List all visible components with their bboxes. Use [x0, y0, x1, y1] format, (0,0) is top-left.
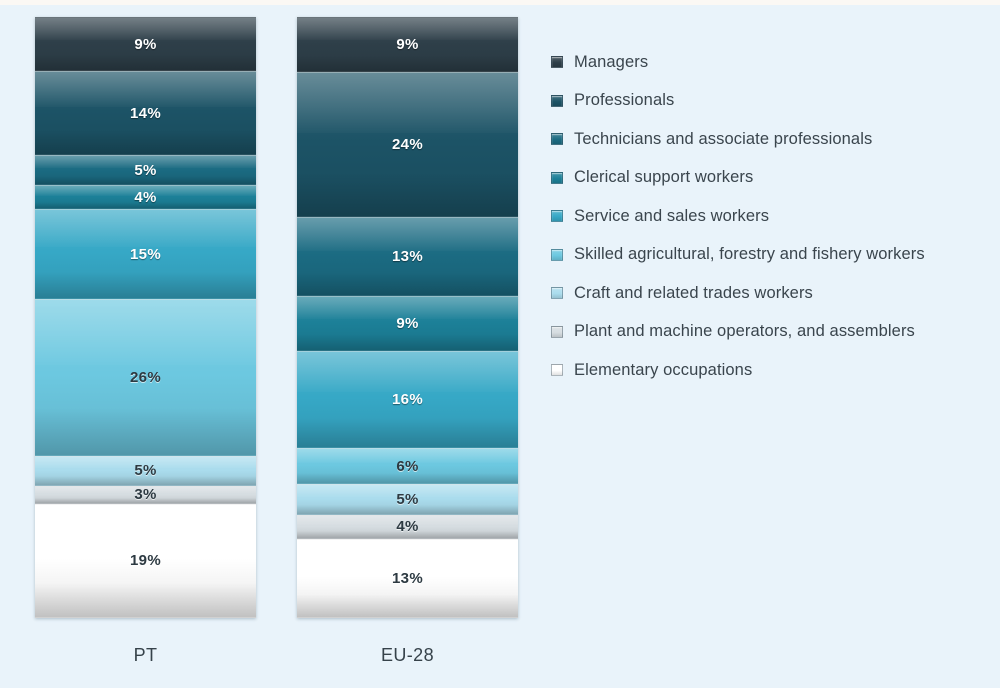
segment-value-label: 9%: [396, 36, 418, 53]
segment-value-label: 13%: [392, 570, 423, 587]
legend-item-label: Technicians and associate professionals: [574, 130, 872, 149]
segment-value-label: 19%: [130, 552, 161, 569]
bar-segment-eu28-managers: 9%: [297, 17, 518, 72]
bar-stack-pt: 9%14%5%4%15%26%5%3%19%: [35, 17, 256, 618]
segment-value-label: 4%: [134, 189, 156, 206]
legend-item-label: Clerical support workers: [574, 168, 753, 187]
legend-item-managers[interactable]: Managers: [551, 43, 996, 82]
segment-value-label: 4%: [396, 518, 418, 535]
segment-value-label: 9%: [396, 315, 418, 332]
segment-value-label: 26%: [130, 369, 161, 386]
legend-item-elementary-occupations[interactable]: Elementary occupations: [551, 351, 996, 390]
bar-segment-pt-elementary-occupations: 19%: [35, 504, 256, 618]
segment-value-label: 16%: [392, 391, 423, 408]
legend-item-skilled-agricultural-forestry-and-fishery-workers[interactable]: Skilled agricultural, forestry and fishe…: [551, 236, 996, 275]
legend-swatch-icon: [551, 364, 563, 376]
legend-item-label: Professionals: [574, 91, 674, 110]
segment-value-label: 5%: [134, 162, 156, 179]
bar-segment-pt-clerical-support-workers: 4%: [35, 185, 256, 209]
legend-item-label: Craft and related trades workers: [574, 284, 813, 303]
bar-segment-eu28-professionals: 24%: [297, 72, 518, 218]
legend-item-label: Skilled agricultural, forestry and fishe…: [574, 245, 925, 264]
segment-value-label: 5%: [396, 491, 418, 508]
segment-value-label: 24%: [392, 136, 423, 153]
bar-segment-eu28-skilled-agricultural-forestry-and-fishery-workers: 6%: [297, 448, 518, 484]
bar-segment-pt-plant-and-machine-operators-and-assemblers: 3%: [35, 486, 256, 504]
legend-item-label: Elementary occupations: [574, 361, 752, 380]
legend-swatch-icon: [551, 287, 563, 299]
bar-segment-eu28-service-and-sales-workers: 16%: [297, 351, 518, 448]
legend-item-label: Service and sales workers: [574, 207, 769, 226]
bar-segment-eu28-elementary-occupations: 13%: [297, 539, 518, 618]
segment-value-label: 5%: [134, 462, 156, 479]
legend-swatch-icon: [551, 249, 563, 261]
legend-item-craft-and-related-trades-workers[interactable]: Craft and related trades workers: [551, 274, 996, 313]
bar-segment-eu28-technicians-and-associate-professionals: 13%: [297, 217, 518, 296]
segment-value-label: 6%: [396, 458, 418, 475]
legend-item-label: Managers: [574, 53, 648, 72]
legend-item-plant-and-machine-operators-and-assemblers[interactable]: Plant and machine operators, and assembl…: [551, 313, 996, 352]
bar-segment-pt-managers: 9%: [35, 17, 256, 71]
segment-value-label: 15%: [130, 246, 161, 263]
segment-value-label: 13%: [392, 248, 423, 265]
bar-stack-eu28: 9%24%13%9%16%6%5%4%13%: [297, 17, 518, 618]
segment-value-label: 14%: [130, 105, 161, 122]
bar-group-pt: 9%14%5%4%15%26%5%3%19%: [35, 17, 256, 618]
legend-item-professionals[interactable]: Professionals: [551, 82, 996, 121]
legend-item-technicians-and-associate-professionals[interactable]: Technicians and associate professionals: [551, 120, 996, 159]
bar-segment-pt-skilled-agricultural-forestry-and-fishery-workers: 26%: [35, 299, 256, 455]
bar-segment-eu28-clerical-support-workers: 9%: [297, 296, 518, 351]
legend-swatch-icon: [551, 210, 563, 222]
category-label-eu28: EU-28: [297, 645, 518, 666]
bar-segment-eu28-plant-and-machine-operators-and-assemblers: 4%: [297, 515, 518, 539]
segment-value-label: 3%: [134, 486, 156, 503]
segment-value-label: 9%: [134, 36, 156, 53]
legend-item-clerical-support-workers[interactable]: Clerical support workers: [551, 159, 996, 198]
legend-swatch-icon: [551, 172, 563, 184]
legend-swatch-icon: [551, 133, 563, 145]
legend-swatch-icon: [551, 95, 563, 107]
category-label-pt: PT: [35, 645, 256, 666]
bar-segment-pt-professionals: 14%: [35, 71, 256, 155]
bar-segment-eu28-craft-and-related-trades-workers: 5%: [297, 484, 518, 514]
stacked-bar-chart: 9%14%5%4%15%26%5%3%19% 9%24%13%9%16%6%5%…: [0, 5, 1000, 688]
chart-legend: ManagersProfessionalsTechnicians and ass…: [551, 43, 996, 390]
bar-segment-pt-technicians-and-associate-professionals: 5%: [35, 155, 256, 185]
legend-item-service-and-sales-workers[interactable]: Service and sales workers: [551, 197, 996, 236]
bar-segment-pt-craft-and-related-trades-workers: 5%: [35, 456, 256, 486]
legend-swatch-icon: [551, 326, 563, 338]
bar-segment-pt-service-and-sales-workers: 15%: [35, 209, 256, 299]
legend-swatch-icon: [551, 56, 563, 68]
bar-group-eu28: 9%24%13%9%16%6%5%4%13%: [297, 17, 518, 618]
legend-item-label: Plant and machine operators, and assembl…: [574, 322, 915, 341]
